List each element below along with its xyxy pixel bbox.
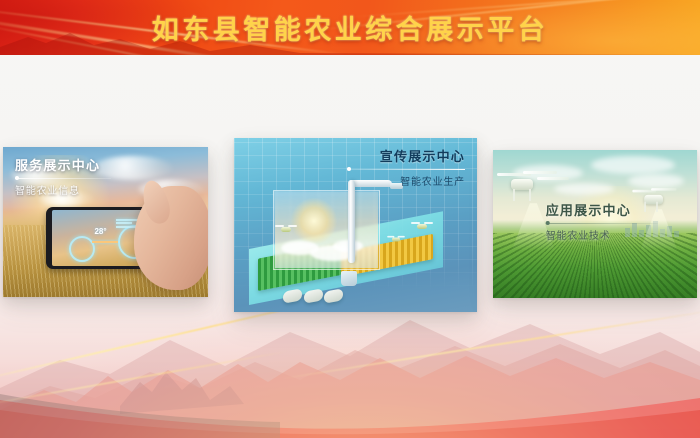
divider-dot (15, 176, 19, 180)
drone (387, 236, 405, 243)
card-title: 宣传展示中心 (347, 150, 465, 165)
divider-dot (546, 221, 550, 225)
hud-bar (92, 241, 118, 243)
card-title: 应用展示中心 (546, 204, 658, 219)
card-divider (546, 223, 658, 224)
app-root: 如东县智能农业综合展示平台 28° (0, 0, 700, 438)
card-promotion-image: 宣传展示中心 智能农业生产 (234, 138, 477, 312)
card-promotion-center[interactable]: 宣传展示中心 智能农业生产 (234, 138, 477, 312)
card-service-caption: 服务展示中心 智能农业信息 (15, 159, 111, 197)
drone-leg (529, 189, 531, 201)
hud-bar (116, 222, 132, 224)
temperature-readout: 28° (94, 227, 106, 236)
sun-glow (291, 198, 337, 244)
card-application-caption: 应用展示中心 智能农业技术 (546, 204, 658, 242)
streetlamp-pole (348, 180, 355, 264)
card-service-image: 28° 服务展示中心 智能农业信息 (3, 147, 208, 297)
drone-body (644, 194, 663, 203)
hud-bar (116, 226, 136, 228)
card-application-center[interactable]: 应用展示中心 智能农业技术 (493, 150, 697, 298)
card-divider (15, 178, 111, 179)
drone (275, 225, 297, 234)
hud-bar (116, 219, 138, 221)
cloud (628, 174, 684, 188)
card-promotion-caption: 宣传展示中心 智能农业生产 (347, 150, 465, 188)
drone-body (417, 224, 427, 229)
drone-rotor (523, 171, 557, 174)
cloud (591, 156, 675, 174)
drone-body (281, 227, 291, 232)
card-application-image: 应用展示中心 智能农业技术 (493, 150, 697, 298)
drone (497, 171, 571, 205)
page-header-banner: 如东县智能农业综合展示平台 (0, 0, 700, 55)
card-subtitle: 智能农业生产 (347, 173, 465, 188)
drone-rotor (424, 222, 433, 224)
card-subtitle: 智能农业信息 (15, 182, 111, 197)
card-service-center[interactable]: 28° 服务展示中心 智能农业信息 (3, 147, 208, 297)
card-divider (347, 169, 465, 170)
drone-rotor (651, 188, 677, 191)
card-subtitle: 智能农业技术 (546, 227, 658, 242)
drone-body (392, 238, 400, 242)
drone-leg (513, 189, 515, 201)
hud-ring-icon (69, 236, 95, 262)
water-bucket (341, 271, 357, 286)
card-title: 服务展示中心 (15, 159, 111, 174)
page-title: 如东县智能农业综合展示平台 (0, 0, 700, 55)
drone-rotor (537, 177, 569, 180)
drone (411, 222, 433, 231)
divider-dot (347, 167, 351, 171)
